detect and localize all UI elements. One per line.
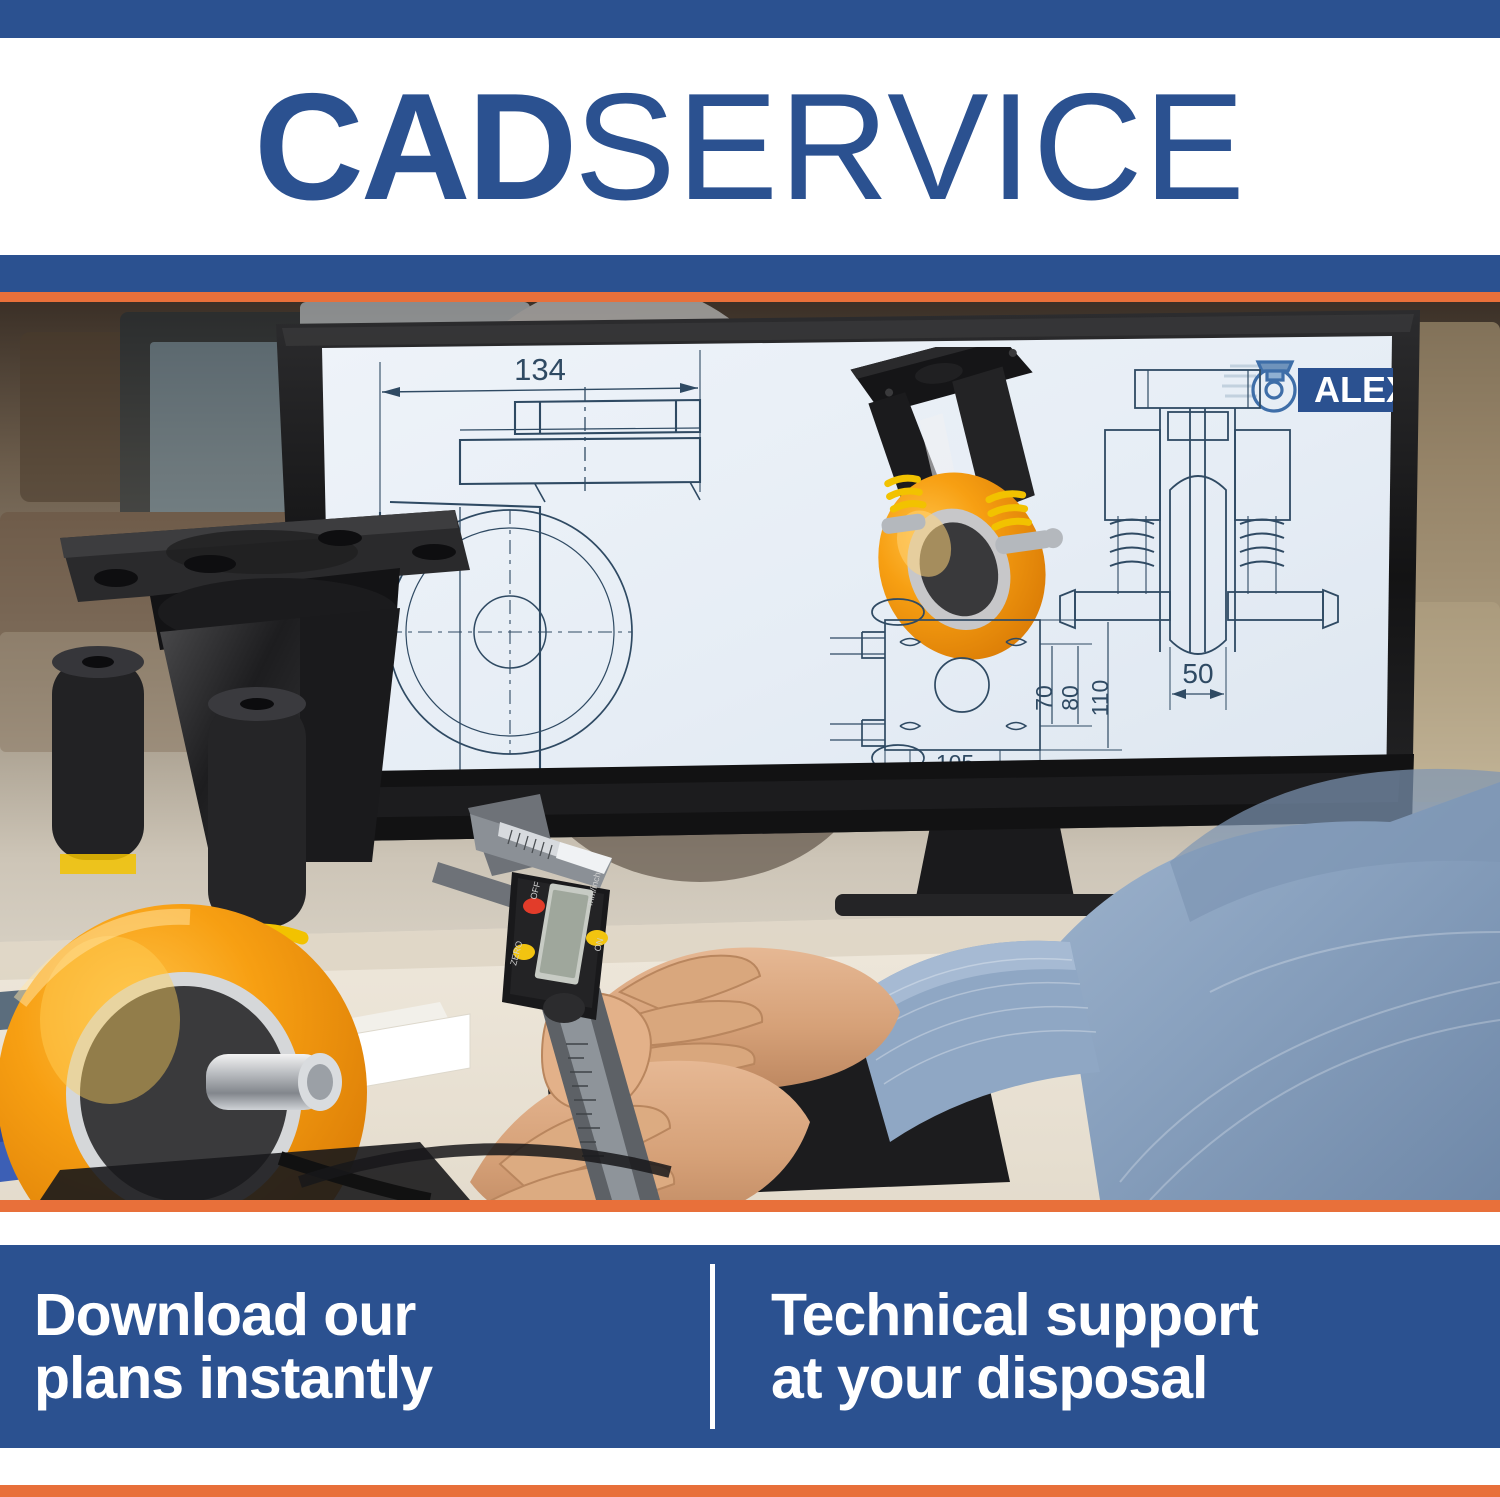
orange-accent-bar-middle xyxy=(0,1200,1500,1212)
orange-accent-bar-bottom xyxy=(0,1485,1500,1497)
footer: Download our plans instantly Technical s… xyxy=(0,1245,1500,1448)
page-title-light: SERVICE xyxy=(574,62,1246,232)
dimension-110: 110 xyxy=(1087,680,1113,717)
middle-blue-bar xyxy=(0,255,1500,292)
caliper-body: OFF ZERO ON mm/inch xyxy=(502,871,610,1023)
page-title: CADSERVICE xyxy=(254,71,1246,223)
axle-bolt xyxy=(206,1053,342,1111)
footer-left-message: Download our plans instantly xyxy=(0,1284,710,1409)
dimension-70: 70 xyxy=(1031,685,1057,711)
header: CADSERVICE xyxy=(0,38,1500,255)
hero-photo: ALEX xyxy=(0,302,1500,1200)
footer-right-line1: Technical support xyxy=(771,1284,1471,1347)
hero-photo-illustration: ALEX xyxy=(0,302,1500,1200)
footer-right-line2: at your disposal xyxy=(771,1347,1471,1410)
footer-right-message: Technical support at your disposal xyxy=(715,1284,1471,1409)
dimension-134: 134 xyxy=(514,352,566,387)
orange-accent-bar-top xyxy=(0,292,1500,302)
footer-left-line1: Download our xyxy=(34,1284,710,1347)
right-bumper xyxy=(208,687,306,927)
dimension-50: 50 xyxy=(1182,658,1213,689)
top-blue-bar xyxy=(0,0,1500,38)
dimension-80: 80 xyxy=(1057,685,1083,711)
page-title-bold: CAD xyxy=(254,62,574,232)
left-bumper xyxy=(52,646,144,874)
footer-left-line2: plans instantly xyxy=(34,1347,710,1410)
cad-service-banner: CADSERVICE xyxy=(0,0,1500,1497)
